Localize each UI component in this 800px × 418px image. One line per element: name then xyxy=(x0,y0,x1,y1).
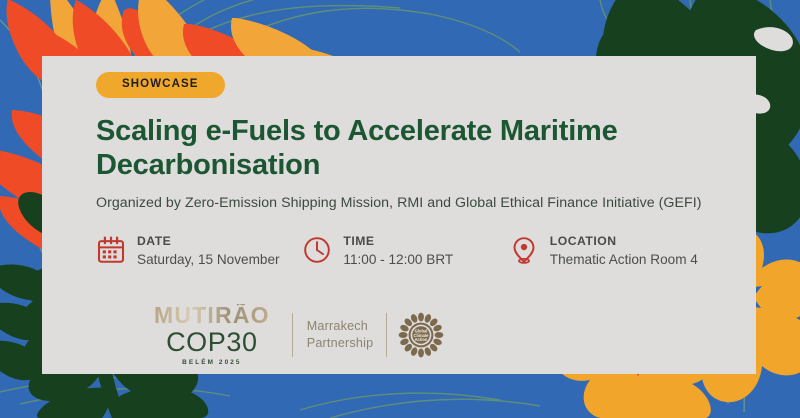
meta-value-location: Thematic Action Room 4 xyxy=(550,251,698,269)
meta-label-location: LOCATION xyxy=(550,235,698,248)
mutirao-wordmark: MUTIRÃO xyxy=(154,304,270,327)
calendar-icon xyxy=(96,235,126,265)
meta-label-time: TIME xyxy=(343,235,453,248)
meta-value-date: Saturday, 15 November xyxy=(137,251,280,269)
cop30-wordmark: COP30 xyxy=(154,328,270,356)
meta-label-date: DATE xyxy=(137,235,280,248)
event-card: SHOWCASE Scaling e-Fuels to Accelerate M… xyxy=(42,56,756,374)
event-meta-row: DATE Saturday, 15 November TIME 11:00 - … xyxy=(96,234,736,269)
location-pin-icon xyxy=(509,235,539,265)
marrakech-line-2: Partnership xyxy=(307,335,374,352)
organizers-subtitle: Organized by Zero-Emission Shipping Miss… xyxy=(96,194,736,212)
marrakech-line-1: Marrakech xyxy=(307,318,374,335)
cop30-logo: MUTIRÃO COP30 BELÉM 2025 xyxy=(154,304,292,366)
logo-divider-2 xyxy=(386,313,387,357)
meta-item-date: DATE Saturday, 15 November xyxy=(96,234,302,269)
logo-divider-1 xyxy=(292,313,293,357)
meta-item-time: TIME 11:00 - 12:00 BRT xyxy=(302,234,508,269)
belem-2025-text: BELÉM 2025 xyxy=(154,359,270,366)
marrakech-partnership-wordmark: Marrakech Partnership xyxy=(307,318,387,353)
meta-item-location: LOCATION Thematic Action Room 4 xyxy=(509,234,736,269)
showcase-badge: SHOWCASE xyxy=(96,72,225,98)
clock-icon xyxy=(302,235,332,265)
seal-text-line-3: Action xyxy=(415,337,428,342)
event-poster: SHOWCASE Scaling e-Fuels to Accelerate M… xyxy=(0,0,800,418)
global-climate-action-seal: Global Climate Action xyxy=(398,312,444,358)
meta-value-time: 11:00 - 12:00 BRT xyxy=(343,251,453,269)
page-title: Scaling e-Fuels to Accelerate Maritime D… xyxy=(96,114,736,182)
logo-lockup: MUTIRÃO COP30 BELÉM 2025 Marrakech Partn… xyxy=(154,304,444,366)
